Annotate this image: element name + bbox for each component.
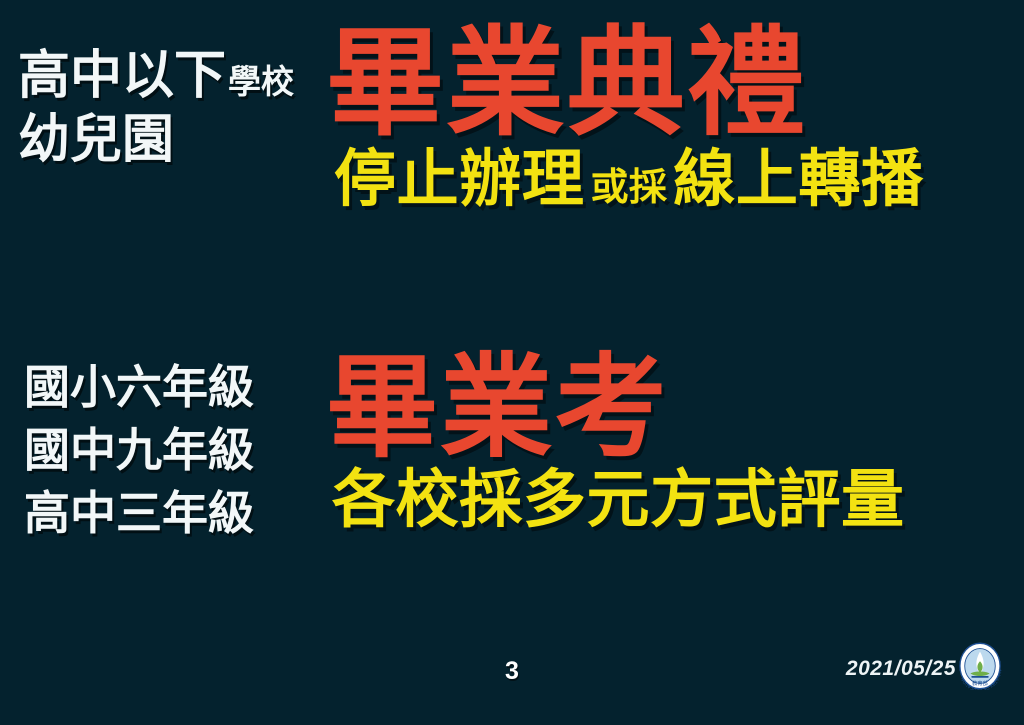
- section-graduation-ceremony: 高中以下 學校 幼兒園 畢業典禮 停止辦理 或採 線上轉播: [0, 24, 1024, 284]
- subheading-online-broadcast: 線上轉播: [673, 148, 923, 210]
- heading-graduation-exam: 畢業考: [326, 352, 905, 464]
- subheading-connector-or-adopt: 或採: [590, 168, 667, 206]
- audience-label-senior-high-grade-3: 高中三年級: [24, 490, 254, 536]
- subheading-graduation-ceremony: 停止辦理 或採 線上轉播: [334, 148, 924, 210]
- audience-label-schools-suffix: 學校: [228, 65, 294, 98]
- block-two-message: 畢業考 各校採多元方式評量: [326, 352, 905, 531]
- audience-label-elementary-grade-6: 國小六年級: [24, 364, 254, 410]
- heading-graduation-ceremony: 畢業典禮: [326, 24, 924, 142]
- audience-label-junior-high-grade-9: 國中九年級: [24, 427, 254, 473]
- block-two-audience-labels: 國小六年級 國中九年級 高中三年級: [24, 364, 254, 553]
- audience-label-senior-high-and-below: 高中以下: [18, 50, 226, 102]
- subheading-multiple-assessment-methods: 各校採多元方式評量: [332, 468, 905, 531]
- slide-footer: 3 2021/05/25 MINISTRY OF EDUCATION 教育部: [0, 639, 1024, 725]
- block-one-audience-labels: 高中以下 學校 幼兒園: [18, 50, 294, 166]
- subheading-suspend-holding: 停止辦理: [334, 148, 584, 210]
- audience-label-row-schools: 高中以下 學校: [18, 50, 294, 102]
- audience-label-kindergarten: 幼兒園: [18, 114, 294, 166]
- slide-date: 2021/05/25: [846, 657, 956, 681]
- section-graduation-exam: 國小六年級 國中九年級 高中三年級 畢業考 各校採多元方式評量: [0, 352, 1024, 592]
- block-one-message: 畢業典禮 停止辦理 或採 線上轉播: [326, 24, 924, 210]
- ministry-of-education-logo: MINISTRY OF EDUCATION 教育部: [958, 642, 1002, 690]
- slide-canvas: 高中以下 學校 幼兒園 畢業典禮 停止辦理 或採 線上轉播 國小六年級 國中九年…: [0, 0, 1024, 725]
